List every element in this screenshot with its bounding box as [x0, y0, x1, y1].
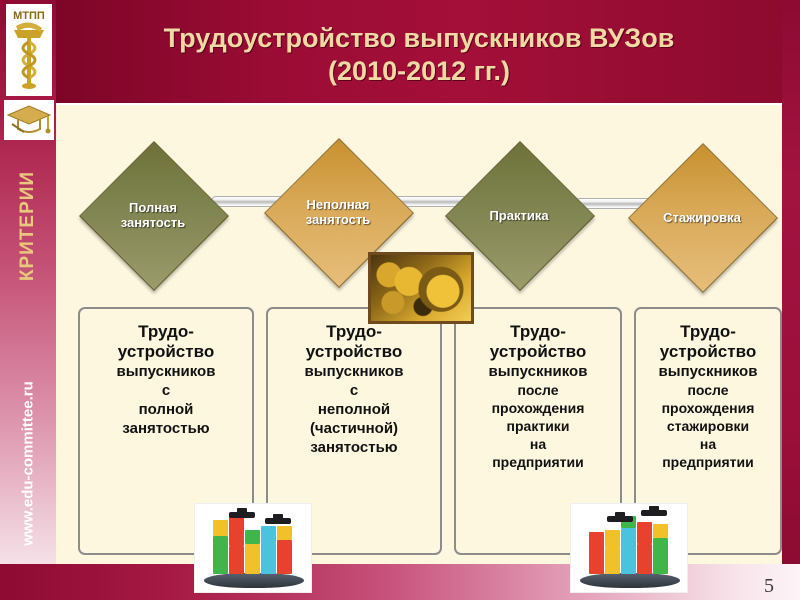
- blocks-photo-left: [194, 503, 312, 593]
- caduceus-icon: МТПП: [6, 4, 52, 96]
- block: [245, 530, 260, 544]
- block: [213, 520, 228, 536]
- block: [229, 516, 244, 546]
- presentation-slide: Трудоустройство выпускников ВУЗов (2010-…: [0, 0, 800, 600]
- graduation-cap-icon: [4, 100, 54, 140]
- block: [277, 526, 292, 540]
- block: [229, 546, 244, 574]
- block: [605, 548, 620, 574]
- svg-text:МТПП: МТПП: [13, 10, 45, 22]
- block: [653, 524, 668, 538]
- sidebar-criteria-label: КРИТЕРИИ: [17, 136, 39, 316]
- photo-base: [204, 573, 304, 588]
- sidebar-website-url: www.edu-committee.ru: [20, 364, 37, 564]
- graduation-cap-icon: [229, 512, 255, 518]
- block: [621, 528, 636, 574]
- graduation-cap-icon: [265, 518, 291, 524]
- graduation-cap-icon: [641, 510, 667, 516]
- block: [277, 540, 292, 574]
- block: [653, 538, 668, 574]
- block: [605, 530, 620, 548]
- diamond-internship[interactable]: Стажировка: [650, 165, 754, 269]
- photo-base: [580, 573, 680, 588]
- graduation-cap-icon: [607, 516, 633, 522]
- block: [213, 536, 228, 574]
- block: [637, 522, 652, 544]
- block: [245, 544, 260, 574]
- mtpp-logo: МТПП: [6, 4, 52, 96]
- slide-title: Трудоустройство выпускников ВУЗов (2010-…: [56, 22, 782, 88]
- diamond-practice[interactable]: Практика: [467, 163, 571, 267]
- block: [589, 532, 604, 574]
- block: [261, 526, 276, 574]
- graduation-cap-glyph: [4, 100, 54, 140]
- title-line-1: Трудоустройство выпускников ВУЗов: [164, 23, 675, 53]
- gears-photo: [368, 252, 474, 324]
- title-line-2: (2010-2012 гг.): [56, 55, 782, 88]
- block: [637, 544, 652, 574]
- right-border-band: [782, 0, 800, 600]
- blocks-photo-right: [570, 503, 688, 593]
- page-number: 5: [764, 575, 774, 598]
- diamond-partial-employment[interactable]: Неполная занятость: [286, 160, 390, 264]
- diamond-full-employment[interactable]: Полная занятость: [101, 163, 205, 267]
